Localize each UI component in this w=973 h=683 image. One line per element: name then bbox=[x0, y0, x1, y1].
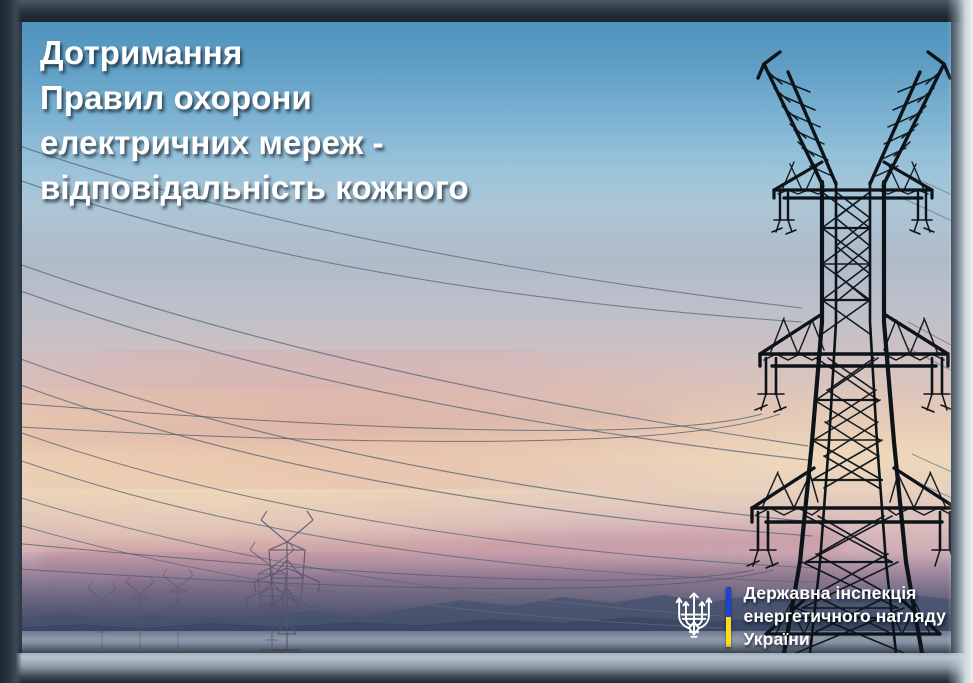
frame-bottom bbox=[0, 653, 973, 683]
tryzub-icon bbox=[674, 591, 714, 643]
frame-top bbox=[0, 0, 973, 22]
organization-name: Державна інспекція енергетичного нагляду… bbox=[743, 582, 946, 651]
ukraine-flag-bar bbox=[726, 587, 731, 647]
flag-blue-segment bbox=[726, 587, 731, 617]
frame-left bbox=[0, 0, 22, 683]
frame-bottom-shadow bbox=[0, 643, 973, 653]
poster: Дотримання Правил охорони електричних ме… bbox=[0, 0, 973, 683]
organization-logo: Державна інспекція енергетичного нагляду… bbox=[674, 582, 946, 651]
frame-right bbox=[947, 0, 973, 683]
page-title: Дотримання Правил охорони електричних ме… bbox=[40, 30, 469, 210]
